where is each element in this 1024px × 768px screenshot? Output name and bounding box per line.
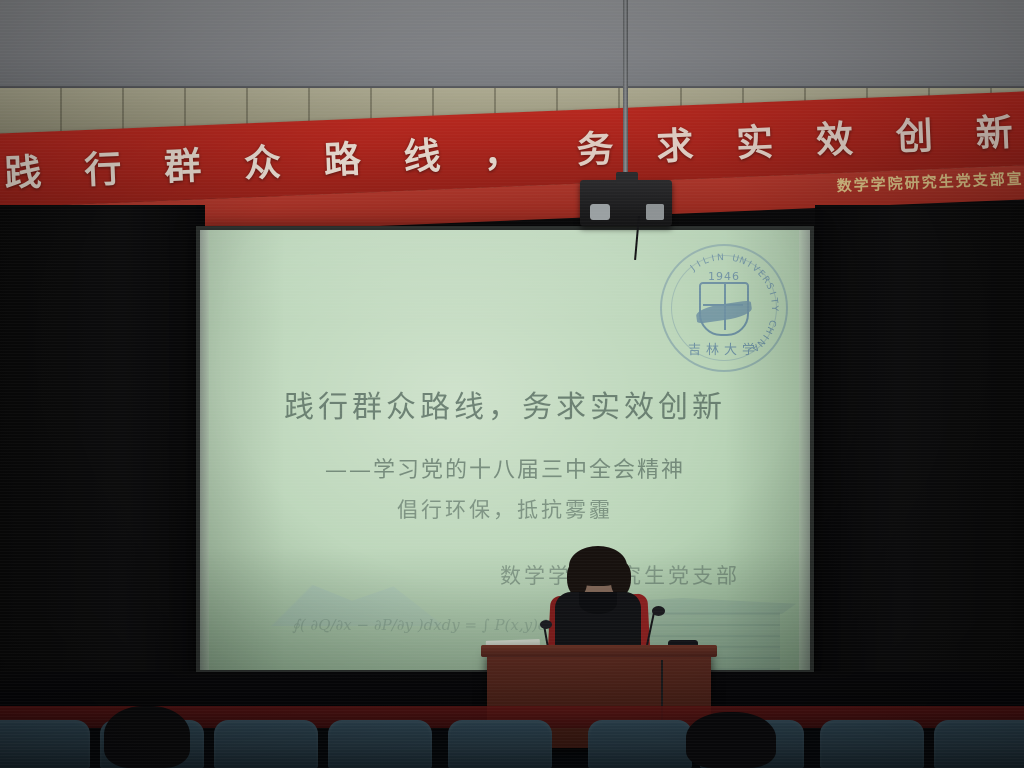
seat xyxy=(214,720,318,768)
seal-english-char: I xyxy=(767,291,777,297)
projector-mount-pole xyxy=(623,0,628,186)
speaker-collar xyxy=(579,592,617,614)
seat xyxy=(448,720,552,768)
banner-text-right: 务 求 实 效 创 新 xyxy=(575,101,1024,173)
university-seal: 1946 JILIN UNIVERSITY CHINA 吉林大学 xyxy=(660,244,788,372)
podium-top-surface xyxy=(481,645,717,657)
slide-department-label: 数学学院研究生党支部 xyxy=(500,560,800,590)
seal-english-char: N xyxy=(717,253,725,263)
microphone-head-secondary xyxy=(540,620,552,629)
seat xyxy=(0,720,90,768)
seat xyxy=(934,720,1024,768)
speaker-person xyxy=(549,548,647,660)
projector-mount-bracket xyxy=(616,172,638,184)
screen-edge-right xyxy=(799,230,810,670)
seat xyxy=(820,720,924,768)
curtain-right xyxy=(815,205,1024,695)
slide-subtitle: ——学习党的十八届三中全会精神 xyxy=(200,452,810,484)
speaker-hair-left xyxy=(567,562,587,596)
seal-english-char: J xyxy=(689,264,698,274)
seal-english-char: I xyxy=(711,254,716,264)
speaker-hair-right xyxy=(611,562,631,596)
slide-subtitle-secondary: 倡行环保，抵抗雾霾 xyxy=(200,494,810,524)
slide-title: 践行群众路线，务求实效创新 xyxy=(200,382,810,426)
audience-head xyxy=(104,706,190,768)
lecture-hall-scene: 践 行 群 众 路 线 ， 务 求 实 效 创 新 数学学院研究生党支部宣 19… xyxy=(0,0,1024,768)
projector xyxy=(580,180,672,226)
seal-english-char: Y xyxy=(769,305,779,311)
banner-text-left: 践 行 群 众 路 线 ， xyxy=(3,122,536,198)
seal-english-char: T xyxy=(768,297,779,304)
projection-screen: 1946 JILIN UNIVERSITY CHINA 吉林大学 践行群众路线，… xyxy=(200,230,810,670)
projector-lens-icon xyxy=(590,204,610,220)
curtain-left xyxy=(0,205,205,695)
projection-screen-frame: 1946 JILIN UNIVERSITY CHINA 吉林大学 践行群众路线，… xyxy=(196,226,814,674)
projector-vent xyxy=(646,204,664,220)
screen-edge-left xyxy=(200,230,209,670)
seat xyxy=(328,720,432,768)
audience-head xyxy=(686,712,776,768)
seal-english-char: L xyxy=(702,256,711,267)
seat xyxy=(588,720,692,768)
seal-chinese-label: 吉林大学 xyxy=(662,339,786,358)
audience-seat-row xyxy=(0,718,1024,768)
microphone-head xyxy=(652,606,665,616)
